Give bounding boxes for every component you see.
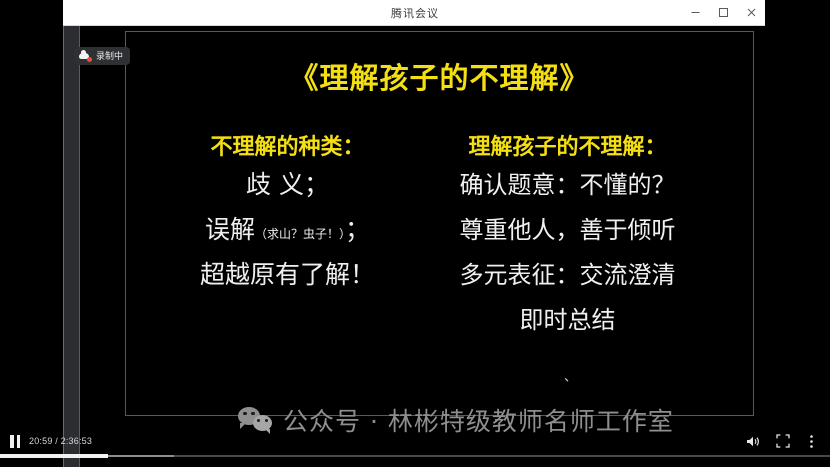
recording-badge[interactable]: 录制中 [74, 47, 130, 65]
slide-columns: 不理解的种类： 歧 义； 误解（求山？虫子！）； 超越原有了解！ 理解孩子的不理… [126, 136, 753, 340]
right-column-line-2: 尊重他人，善于倾听 [418, 211, 718, 250]
window-title: 腾讯会议 [63, 5, 681, 21]
minimize-button[interactable] [681, 0, 709, 26]
left-column-line-2-suffix: ； [345, 215, 370, 244]
left-column-line-2: 误解（求山？虫子！）； [162, 211, 414, 250]
recording-label: 录制中 [96, 52, 123, 61]
slide-column-right: 理解孩子的不理解： 确认题意：不懂的？ 尊重他人，善于倾听 多元表征：交流澄清 … [418, 136, 718, 340]
left-column-line-2-note: （求山？虫子！） [255, 227, 345, 241]
maximize-button[interactable] [709, 0, 737, 26]
window-titlebar: 腾讯会议 [63, 0, 765, 26]
more-vertical-icon[interactable] [804, 434, 819, 449]
tencent-meeting-window: 腾讯会议 [63, 0, 765, 467]
pointer-mark: 、 [564, 366, 577, 385]
cloud-record-icon [79, 51, 92, 62]
slide-column-left: 不理解的种类： 歧 义； 误解（求山？虫子！）； 超越原有了解！ [162, 136, 418, 294]
fullscreen-icon[interactable] [775, 434, 790, 449]
close-button[interactable] [737, 0, 765, 26]
left-column-heading: 不理解的种类： [162, 136, 414, 160]
volume-icon[interactable] [746, 434, 761, 449]
left-column-line-3: 超越原有了解！ [162, 256, 414, 295]
player-controls-right [746, 434, 830, 449]
left-column-line-1: 歧 义； [162, 166, 414, 205]
meeting-left-rail [63, 26, 80, 467]
progress-filled [0, 454, 108, 458]
presentation-slide: 《理解孩子的不理解》 不理解的种类： 歧 义； 误解（求山？虫子！）； 超越原有… [125, 31, 754, 416]
right-column-line-3: 多元表征：交流澄清 [418, 256, 718, 295]
right-column-line-1: 确认题意：不懂的？ [418, 166, 718, 205]
video-player: 腾讯会议 [0, 0, 830, 467]
right-column-heading: 理解孩子的不理解： [418, 136, 718, 160]
progress-bar[interactable] [0, 454, 830, 458]
progress-buffer [108, 455, 174, 457]
pause-button[interactable] [8, 434, 22, 448]
time-display: 20:59 / 2:36:53 [29, 436, 92, 446]
player-controls-left: 20:59 / 2:36:53 [0, 434, 92, 448]
left-column-line-2-main: 误解 [205, 215, 255, 244]
slide-title: 《理解孩子的不理解》 [126, 55, 753, 97]
right-column-line-4: 即时总结 [418, 301, 718, 340]
player-controls: 20:59 / 2:36:53 [0, 429, 830, 453]
